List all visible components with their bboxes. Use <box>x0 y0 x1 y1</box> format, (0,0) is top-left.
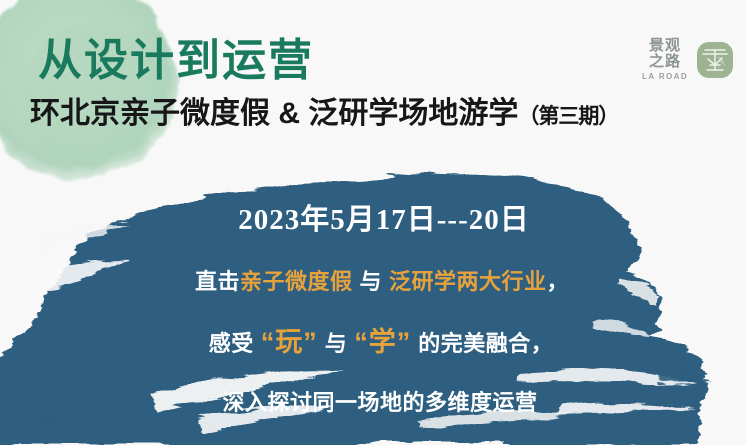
poster-canvas: 从设计到运营 环北京亲子微度假 & 泛研学场地游学（第三期） 景观 之路 LA … <box>0 0 746 445</box>
tagline-play-learn: 感受“玩”与“学”的完美融合， <box>0 320 746 359</box>
brand-logo-wordmark: 景观 之路 LA ROAD <box>642 38 688 81</box>
brand-logo[interactable]: 景观 之路 LA ROAD <box>642 38 734 81</box>
tagline-play-learn-highlight2: “学” <box>354 327 411 357</box>
band-copy-block: 2023年5月17日---20日 直击亲子微度假与泛研学两大行业， 感受“玩”与… <box>0 196 746 417</box>
brand-logo-en: LA ROAD <box>642 73 688 81</box>
event-date-line: 2023年5月17日---20日 <box>0 196 746 238</box>
tagline-industries-highlight2: 泛研学两大行业 <box>389 269 547 294</box>
tagline-industries-part2: 与 <box>359 269 382 294</box>
headline-block: 从设计到运营 环北京亲子微度假 & 泛研学场地游学（第三期） <box>38 36 738 132</box>
page-subtitle: 环北京亲子微度假 & 泛研学场地游学（第三期） <box>30 97 738 132</box>
tagline-play-learn-highlight1: “玩” <box>261 327 318 357</box>
tagline-industries-highlight1: 亲子微度假 <box>240 269 353 294</box>
tagline-industries: 直击亲子微度假与泛研学两大行业， <box>0 264 746 296</box>
tagline-industries-part1: 直击 <box>195 269 240 294</box>
tagline-play-learn-part2: 与 <box>325 331 348 356</box>
tagline-play-learn-part3: 的完美融合， <box>418 331 553 356</box>
page-subtitle-issue: （第三期） <box>518 105 618 128</box>
brand-logo-cn-line2: 之路 <box>649 54 681 70</box>
brand-logo-mark-icon <box>696 41 734 79</box>
page-title: 从设计到运营 <box>38 36 738 85</box>
brand-logo-cn-line1: 景观 <box>649 38 681 54</box>
tagline-industries-part3: ， <box>547 269 570 294</box>
tagline-multi-dimension: 深入探讨同一场地的多维度运营 <box>0 385 746 417</box>
page-subtitle-text: 环北京亲子微度假 & 泛研学场地游学 <box>30 97 518 130</box>
tagline-play-learn-part1: 感受 <box>209 331 254 356</box>
